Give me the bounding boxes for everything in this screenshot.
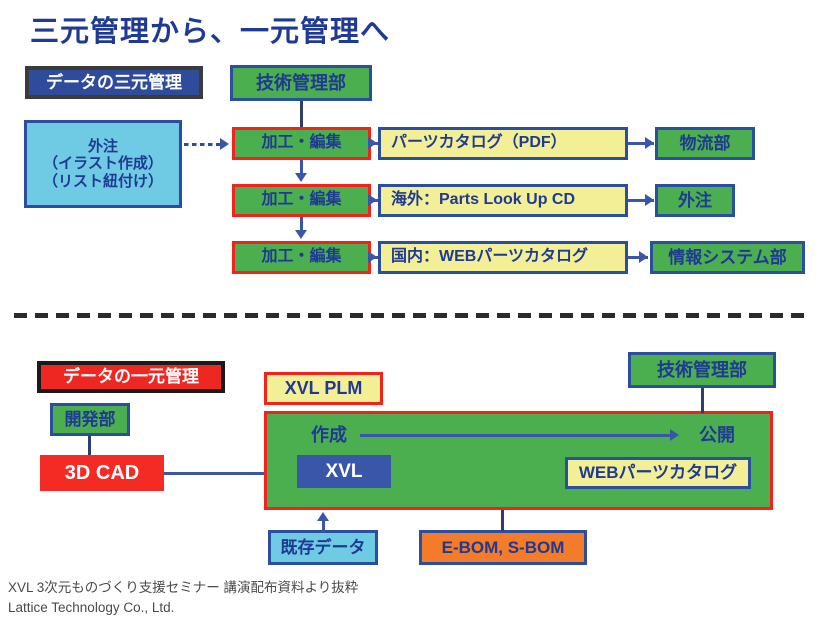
process-box-1: 加工・編集 bbox=[232, 127, 371, 160]
connector-outsource-dotted bbox=[184, 143, 222, 146]
arrow-outsource-to-process bbox=[220, 138, 229, 150]
process-box-2: 加工・編集 bbox=[232, 184, 371, 217]
section-divider bbox=[14, 313, 809, 318]
arrow-output3-to-consumer3 bbox=[639, 251, 648, 263]
web-catalog-box: WEBパーツカタログ bbox=[565, 457, 751, 489]
top-dept-box: 技術管理部 bbox=[230, 65, 372, 101]
existing-data-box: 既存データ bbox=[268, 530, 378, 565]
connector-dept-to-panel bbox=[701, 388, 704, 413]
arrow-create-to-publish bbox=[670, 429, 679, 441]
footer: XVL 3次元ものづくり支援セミナー 講演配布資料より抜粋 Lattice Te… bbox=[8, 578, 358, 617]
connector-existing-to-panel bbox=[322, 521, 325, 532]
arrow-process2-to-3 bbox=[295, 230, 307, 239]
output-box-3: 国内：WEBパーツカタログ bbox=[378, 241, 628, 274]
arrow-output1-to-consumer1 bbox=[645, 137, 654, 149]
plm-tab: XVL PLM bbox=[264, 372, 383, 405]
arrow-process3-to-output3 bbox=[368, 251, 377, 263]
arrow-existing-to-panel bbox=[317, 512, 329, 521]
bom-box: E-BOM, S-BOM bbox=[419, 530, 587, 565]
consumer-box-2: 外注 bbox=[655, 184, 735, 217]
output-box-2: 海外：Parts Look Up CD bbox=[378, 184, 628, 217]
top-section-label: データの三元管理 bbox=[25, 66, 203, 99]
slide-canvas: 三元管理から、一元管理へ データの三元管理 技術管理部 外注 （イラスト作成） … bbox=[0, 0, 821, 621]
consumer-box-3: 情報システム部 bbox=[650, 241, 805, 274]
page-title: 三元管理から、一元管理へ bbox=[30, 8, 390, 50]
arrow-process1-to-output1 bbox=[368, 137, 377, 149]
xvl-box: XVL bbox=[297, 455, 391, 488]
connector-bom-to-panel bbox=[501, 510, 504, 531]
consumer-box-1: 物流部 bbox=[655, 127, 755, 160]
bottom-dept-box: 技術管理部 bbox=[628, 352, 776, 388]
arrow-output2-to-consumer2 bbox=[645, 194, 654, 206]
dev-dept-box: 開発部 bbox=[50, 403, 130, 436]
bottom-section-label: データの一元管理 bbox=[37, 361, 225, 393]
outsource-box: 外注 （イラスト作成） （リスト紐付け） bbox=[24, 120, 182, 208]
publish-label: 公開 bbox=[688, 422, 746, 448]
connector-create-to-publish bbox=[360, 434, 673, 437]
footer-line-1: XVL 3次元ものづくり支援セミナー 講演配布資料より抜粋 bbox=[8, 578, 358, 598]
cad-box: 3D CAD bbox=[40, 455, 164, 491]
connector-dept-to-process bbox=[300, 101, 303, 129]
footer-line-2: Lattice Technology Co., Ltd. bbox=[8, 598, 358, 618]
arrow-process2-to-output2 bbox=[368, 194, 377, 206]
output-box-1: パーツカタログ（PDF） bbox=[378, 127, 628, 160]
create-label: 作成 bbox=[300, 422, 358, 448]
process-box-3: 加工・編集 bbox=[232, 241, 371, 274]
arrow-process1-to-2 bbox=[295, 173, 307, 182]
connector-dev-to-cad bbox=[88, 436, 91, 455]
